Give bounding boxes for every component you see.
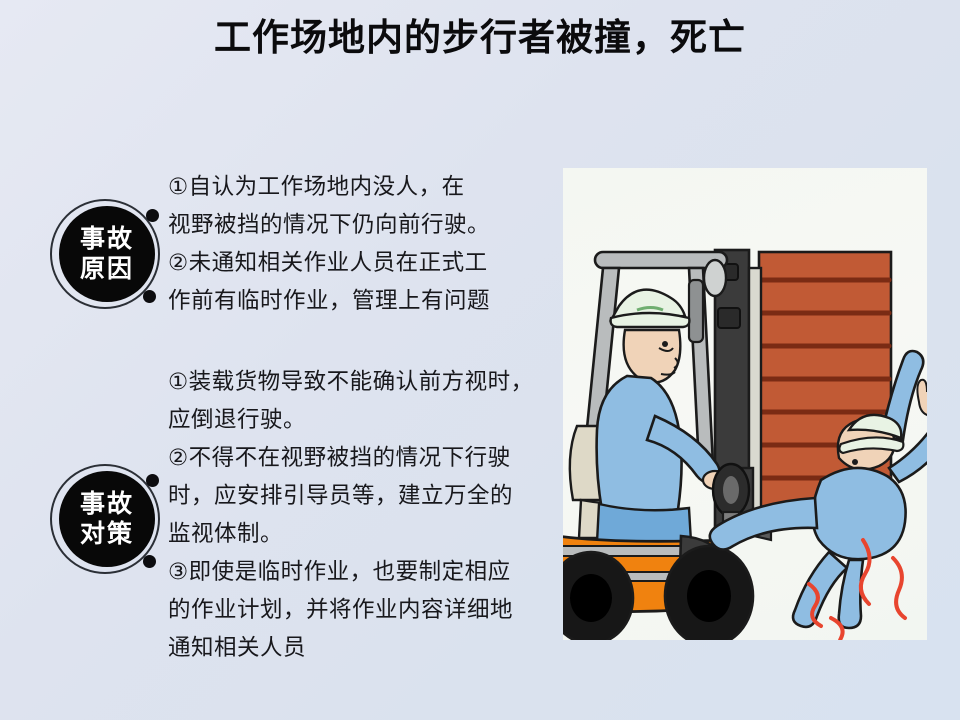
text-line: ②未通知相关作业人员在正式工 bbox=[168, 244, 490, 282]
accident-cause-text: ①自认为工作场地内没人，在 视野被挡的情况下仍向前行驶。 ②未通知相关作业人员在… bbox=[168, 168, 490, 320]
text-line: 应倒退行驶。 bbox=[168, 401, 534, 439]
badge-accident-countermeasure: 事故 对策 bbox=[48, 462, 166, 580]
badge-dot-bottom-right-icon bbox=[143, 290, 156, 303]
text-line: ①装载货物导致不能确认前方视时， bbox=[168, 363, 534, 401]
badge-dot-top-right-icon bbox=[146, 209, 159, 222]
badge-accident-cause: 事故 原因 bbox=[48, 197, 166, 315]
badge-label-line2: 原因 bbox=[80, 254, 134, 284]
page-title: 工作场地内的步行者被撞，死亡 bbox=[0, 14, 960, 62]
text-line: ③即使是临时作业，也要制定相应 bbox=[168, 553, 534, 591]
forklift-striking-pedestrian-illustration bbox=[563, 168, 927, 640]
text-line: 作前有临时作业，管理上有问题 bbox=[168, 282, 490, 320]
badge-disc: 事故 对策 bbox=[59, 471, 155, 567]
text-line: 视野被挡的情况下仍向前行驶。 bbox=[168, 206, 490, 244]
badge-label-line2: 对策 bbox=[80, 519, 134, 549]
badge-disc: 事故 原因 bbox=[59, 206, 155, 302]
hand-icon bbox=[917, 378, 927, 417]
accident-countermeasure-text: ①装载货物导致不能确认前方视时， 应倒退行驶。 ②不得不在视野被挡的情况下行驶 … bbox=[168, 363, 534, 667]
badge-dot-bottom-right-icon bbox=[143, 555, 156, 568]
text-line: ①自认为工作场地内没人，在 bbox=[168, 168, 490, 206]
slide-canvas: 工作场地内的步行者被撞，死亡 事故 原因 事故 对策 ①自认为工作场地内没人，在… bbox=[0, 0, 960, 720]
badge-dot-top-right-icon bbox=[146, 474, 159, 487]
text-line: ②不得不在视野被挡的情况下行驶 bbox=[168, 439, 534, 477]
badge-label-line1: 事故 bbox=[80, 489, 134, 519]
text-line: 的作业计划，并将作业内容详细地 bbox=[168, 591, 534, 629]
text-line: 时，应安排引导员等，建立万全的 bbox=[168, 477, 534, 515]
text-line: 通知相关人员 bbox=[168, 629, 534, 667]
badge-label-line1: 事故 bbox=[80, 224, 134, 254]
text-line: 监视体制。 bbox=[168, 515, 534, 553]
